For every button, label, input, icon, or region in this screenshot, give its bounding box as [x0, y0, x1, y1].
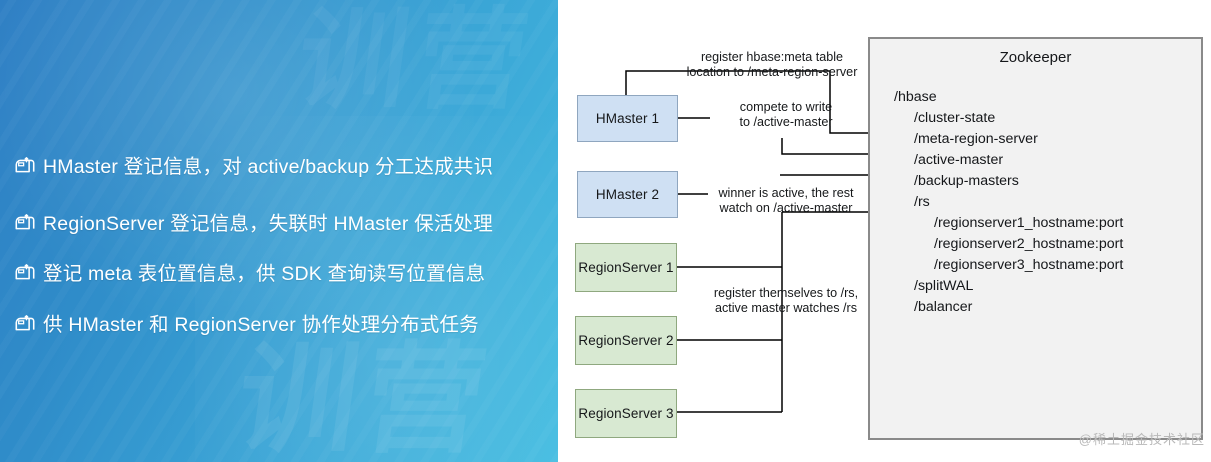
- znode-line: /regionserver3_hostname:port: [894, 255, 1123, 276]
- znode-line: /hbase: [894, 87, 1123, 108]
- znode-line: /cluster-state: [894, 108, 1123, 129]
- edge-label-compete-to-write: compete to write to /active-master: [706, 100, 866, 130]
- edge-label-register-to-rs: register themselves to /rs, active maste…: [686, 286, 886, 316]
- edge-label-line2: to /active-master: [706, 115, 866, 130]
- node-label: HMaster 2: [596, 187, 659, 202]
- left-info-panel: 训营 训营 HMaster 登记信息，对 active/backup 分工达成共…: [0, 0, 558, 462]
- mailbox-icon: [14, 262, 36, 284]
- znode-line: /meta-region-server: [894, 129, 1123, 150]
- watermark: @稀土掘金技术社区: [1079, 429, 1205, 448]
- edge-label-line1: register hbase:meta table: [642, 50, 902, 65]
- node-hmaster2[interactable]: HMaster 2: [577, 171, 678, 218]
- node-regionserver1[interactable]: RegionServer 1: [575, 243, 677, 292]
- znode-line: /active-master: [894, 150, 1123, 171]
- edge-label-line1: compete to write: [706, 100, 866, 115]
- mailbox-icon: [14, 155, 36, 177]
- bullet-item-label: HMaster 登记信息，对 active/backup 分工达成共识: [43, 150, 493, 179]
- mailbox-icon: [14, 313, 36, 335]
- bullet-item-1: HMaster 登记信息，对 active/backup 分工达成共识: [14, 150, 493, 179]
- slide-canvas: 训营 训营 HMaster 登记信息，对 active/backup 分工达成共…: [0, 0, 1211, 462]
- bullet-item-2: RegionServer 登记信息，失联时 HMaster 保活处理: [14, 207, 493, 236]
- edge-label-register-meta: register hbase:meta table location to /m…: [642, 50, 902, 80]
- bullet-list: HMaster 登记信息，对 active/backup 分工达成共识 Regi…: [0, 0, 558, 462]
- zookeeper-znode-tree: /hbase/cluster-state/meta-region-server/…: [894, 87, 1123, 318]
- zookeeper-title: Zookeeper: [870, 49, 1201, 66]
- bullet-item-label: RegionServer 登记信息，失联时 HMaster 保活处理: [43, 207, 493, 236]
- node-regionserver3[interactable]: RegionServer 3: [575, 389, 677, 438]
- edge-label-winner-is-active: winner is active, the rest watch on /act…: [686, 186, 886, 216]
- node-regionserver2[interactable]: RegionServer 2: [575, 316, 677, 365]
- znode-line: /regionserver2_hostname:port: [894, 234, 1123, 255]
- architecture-diagram: HMaster 1 HMaster 2 RegionServer 1 Regio…: [558, 0, 1211, 462]
- edge-label-line2: location to /meta-region-server: [642, 65, 902, 80]
- node-label: RegionServer 3: [578, 406, 673, 421]
- zookeeper-box: Zookeeper /hbase/cluster-state/meta-regi…: [868, 37, 1203, 440]
- znode-line: /balancer: [894, 297, 1123, 318]
- znode-line: /backup-masters: [894, 171, 1123, 192]
- bullet-item-label: 供 HMaster 和 RegionServer 协作处理分布式任务: [43, 308, 479, 337]
- bullet-item-3: 登记 meta 表位置信息，供 SDK 查询读写位置信息: [14, 257, 485, 286]
- edge-label-line1: winner is active, the rest: [686, 186, 886, 201]
- edge-label-line1: register themselves to /rs,: [686, 286, 886, 301]
- znode-line: /rs: [894, 192, 1123, 213]
- node-label: RegionServer 1: [578, 260, 673, 275]
- znode-line: /regionserver1_hostname:port: [894, 213, 1123, 234]
- edge-label-line2: active master watches /rs: [686, 301, 886, 316]
- node-hmaster1[interactable]: HMaster 1: [577, 95, 678, 142]
- mailbox-icon: [14, 212, 36, 234]
- bullet-item-4: 供 HMaster 和 RegionServer 协作处理分布式任务: [14, 308, 479, 337]
- znode-line: /splitWAL: [894, 276, 1123, 297]
- node-label: RegionServer 2: [578, 333, 673, 348]
- bullet-item-label: 登记 meta 表位置信息，供 SDK 查询读写位置信息: [43, 257, 485, 286]
- node-label: HMaster 1: [596, 111, 659, 126]
- edge-label-line2: watch on /active-master: [686, 201, 886, 216]
